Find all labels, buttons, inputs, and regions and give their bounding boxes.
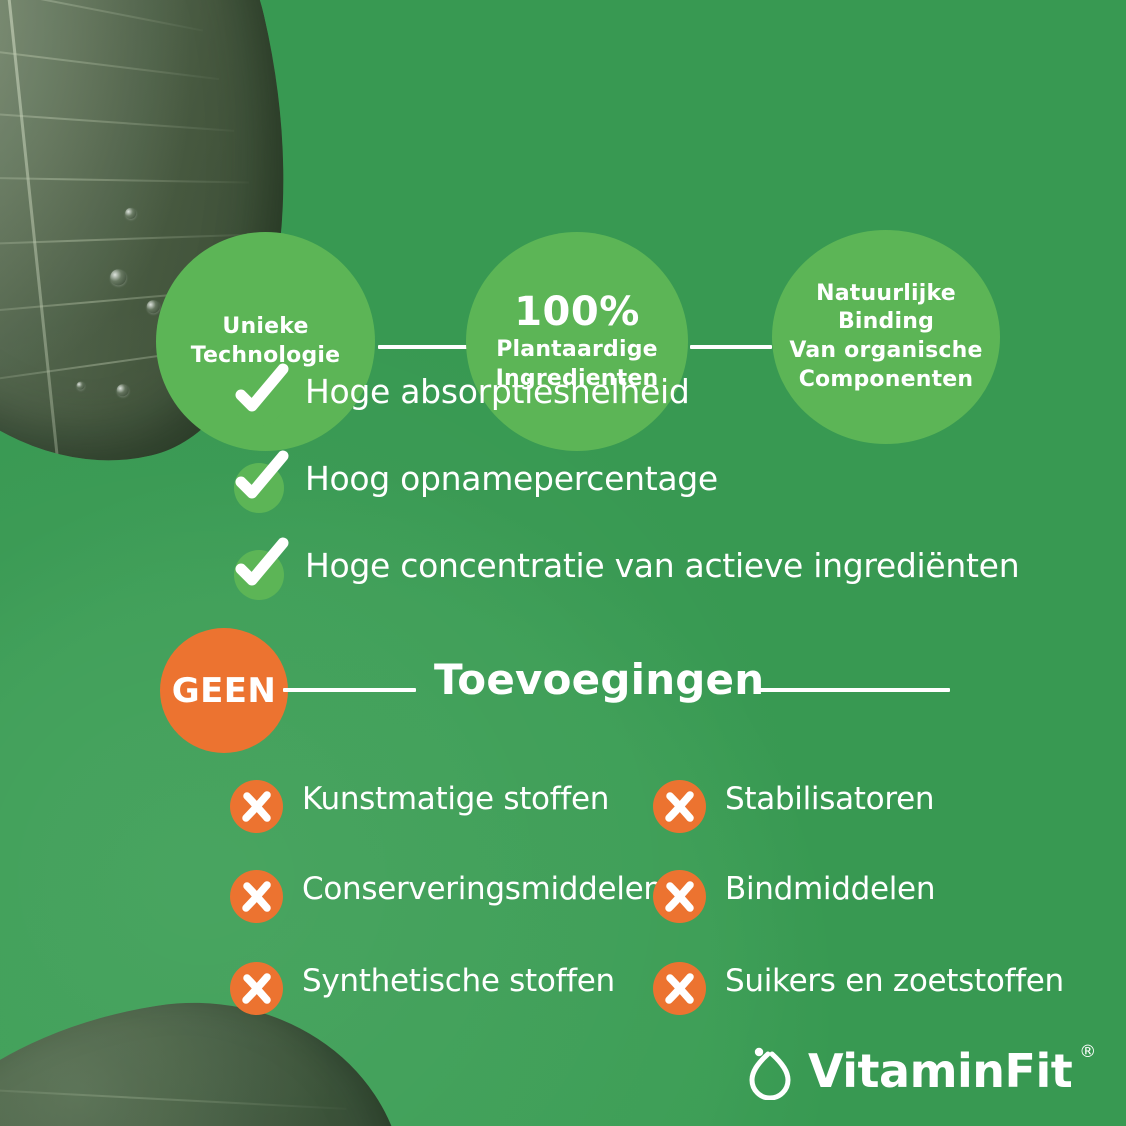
check-icon bbox=[234, 376, 284, 426]
brand-logo: VitaminFit ® bbox=[742, 1040, 1096, 1102]
divider-line-left bbox=[283, 688, 416, 692]
pillar-2-percentage: 100% bbox=[496, 290, 659, 335]
check-icon bbox=[234, 463, 284, 513]
x-icon bbox=[230, 780, 283, 833]
benefit-label: Hoge absorptiesnelheid bbox=[305, 372, 690, 411]
x-icon bbox=[653, 870, 706, 923]
brand-name: VitaminFit bbox=[808, 1048, 1072, 1094]
benefit-item: Hoge absorptiesnelheid bbox=[234, 372, 1094, 459]
pillar-connector-line-2 bbox=[690, 345, 772, 349]
x-icon bbox=[230, 870, 283, 923]
exclusion-label: Kunstmatige stoffen bbox=[302, 781, 609, 817]
pillar-connector-line-1 bbox=[378, 345, 468, 349]
benefits-list: Hoge absorptiesnelheid Hoog opnamepercen… bbox=[234, 372, 1094, 633]
exclusion-label: Bindmiddelen bbox=[725, 871, 935, 907]
droplet-icon bbox=[742, 1042, 798, 1100]
x-icon bbox=[653, 962, 706, 1015]
leaf-vein bbox=[0, 0, 203, 32]
infographic-canvas: Unieke Technologie 100% Plantaardige Ing… bbox=[0, 0, 1126, 1126]
exclusions-header: GEEN Toevoegingen bbox=[160, 628, 1060, 753]
benefit-label: Hoge concentratie van actieve ingrediënt… bbox=[305, 546, 1019, 585]
exclusion-label: Stabilisatoren bbox=[725, 781, 934, 817]
exclusions-title: Toevoegingen bbox=[434, 655, 764, 704]
pillar-3-line2: Binding bbox=[838, 309, 934, 334]
registered-trademark-symbol: ® bbox=[1079, 1042, 1096, 1062]
leaf-vein bbox=[0, 33, 219, 80]
benefit-item: Hoog opnamepercentage bbox=[234, 459, 1094, 546]
x-icon bbox=[653, 780, 706, 833]
geen-badge-label: GEEN bbox=[172, 671, 276, 711]
leaf-vein bbox=[0, 1084, 347, 1109]
benefit-item: Hoge concentratie van actieve ingrediënt… bbox=[234, 546, 1094, 633]
pillar-1-line1: Unieke bbox=[222, 314, 308, 339]
exclusion-label: Suikers en zoetstoffen bbox=[725, 963, 1064, 999]
pillar-3-line1: Natuurlijke bbox=[816, 281, 956, 306]
pillars-row: Unieke Technologie 100% Plantaardige Ing… bbox=[0, 114, 1126, 332]
benefit-label: Hoog opnamepercentage bbox=[305, 459, 718, 498]
x-icon bbox=[230, 962, 283, 1015]
pillar-2-line1: Plantaardige bbox=[496, 337, 658, 362]
geen-badge: GEEN bbox=[160, 628, 288, 753]
pillar-3-line3: Van organische bbox=[789, 338, 982, 363]
exclusion-label: Synthetische stoffen bbox=[302, 963, 615, 999]
water-droplet bbox=[76, 381, 86, 391]
divider-line-right bbox=[758, 688, 950, 692]
exclusion-label: Conserveringsmiddelen bbox=[302, 871, 663, 907]
water-droplet bbox=[116, 383, 130, 397]
check-icon bbox=[234, 550, 284, 600]
